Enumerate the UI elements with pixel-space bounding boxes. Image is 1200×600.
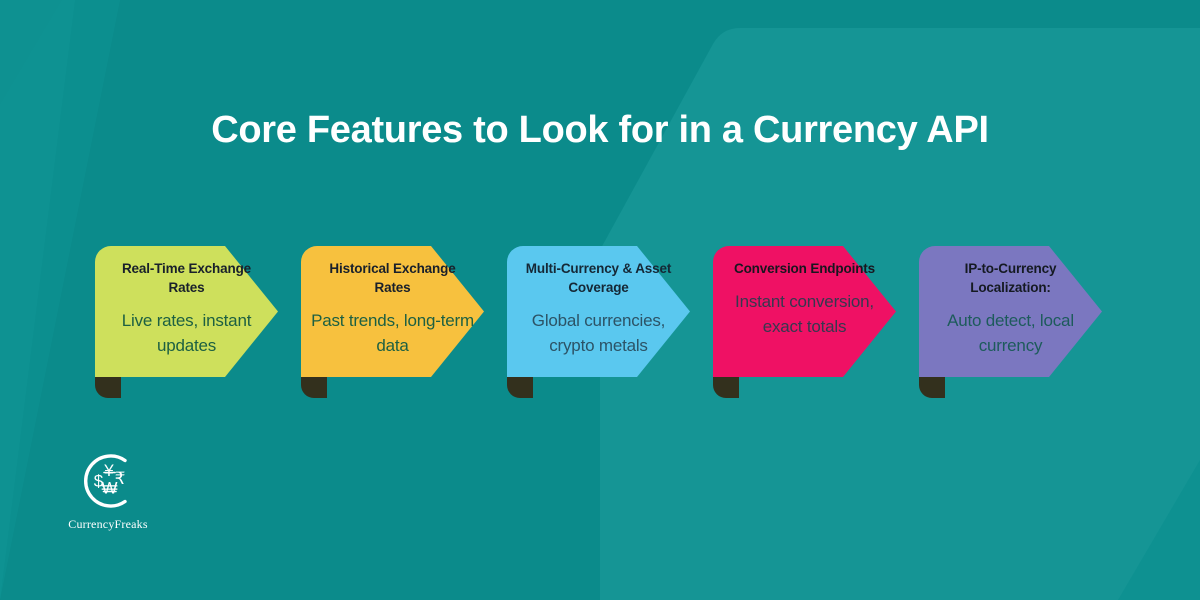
- currency-circle-icon: $ ¥ ₹ ₩: [75, 448, 141, 514]
- feature-card[interactable]: IP-to-Currency Localization: Auto detect…: [919, 246, 1102, 377]
- card-foot-tab: [919, 377, 945, 398]
- brand-wordmark: CurrencyFreaks: [58, 517, 158, 532]
- svg-text:₩: ₩: [101, 479, 117, 498]
- svg-text:¥: ¥: [103, 461, 114, 480]
- feature-card[interactable]: Conversion Endpoints Instant conversion,…: [713, 246, 896, 377]
- card-text-block: Historical Exchange Rates Past trends, l…: [301, 246, 484, 377]
- card-text-block: Multi-Currency & Asset Coverage Global c…: [507, 246, 690, 377]
- card-heading: Multi-Currency & Asset Coverage: [517, 259, 680, 297]
- feature-card[interactable]: Multi-Currency & Asset Coverage Global c…: [507, 246, 690, 377]
- card-body: Instant conversion, exact totals: [723, 290, 886, 339]
- card-body: Live rates, instant updates: [105, 309, 268, 358]
- feature-card[interactable]: Real-Time Exchange Rates Live rates, ins…: [95, 246, 278, 377]
- card-text-block: Real-Time Exchange Rates Live rates, ins…: [95, 246, 278, 377]
- card-heading: IP-to-Currency Localization:: [929, 259, 1092, 297]
- feature-card[interactable]: Historical Exchange Rates Past trends, l…: [301, 246, 484, 377]
- card-foot-tab: [301, 377, 327, 398]
- card-body: Auto detect, local currency: [929, 309, 1092, 358]
- card-heading: Conversion Endpoints: [723, 259, 886, 278]
- feature-card-row: Real-Time Exchange Rates Live rates, ins…: [0, 246, 1200, 406]
- card-foot-tab: [507, 377, 533, 398]
- card-foot-tab: [95, 377, 121, 398]
- card-body: Past trends, long-term data: [311, 309, 474, 358]
- background-right-notch: [1118, 460, 1200, 600]
- card-text-block: Conversion Endpoints Instant conversion,…: [713, 246, 896, 377]
- brand-logo: $ ¥ ₹ ₩ CurrencyFreaks: [58, 448, 158, 532]
- card-heading: Historical Exchange Rates: [311, 259, 474, 297]
- infographic-canvas: Core Features to Look for in a Currency …: [0, 0, 1200, 600]
- card-body: Global currencies, crypto metals: [517, 309, 680, 358]
- card-heading: Real-Time Exchange Rates: [105, 259, 268, 297]
- card-foot-tab: [713, 377, 739, 398]
- page-title: Core Features to Look for in a Currency …: [0, 108, 1200, 153]
- card-text-block: IP-to-Currency Localization: Auto detect…: [919, 246, 1102, 377]
